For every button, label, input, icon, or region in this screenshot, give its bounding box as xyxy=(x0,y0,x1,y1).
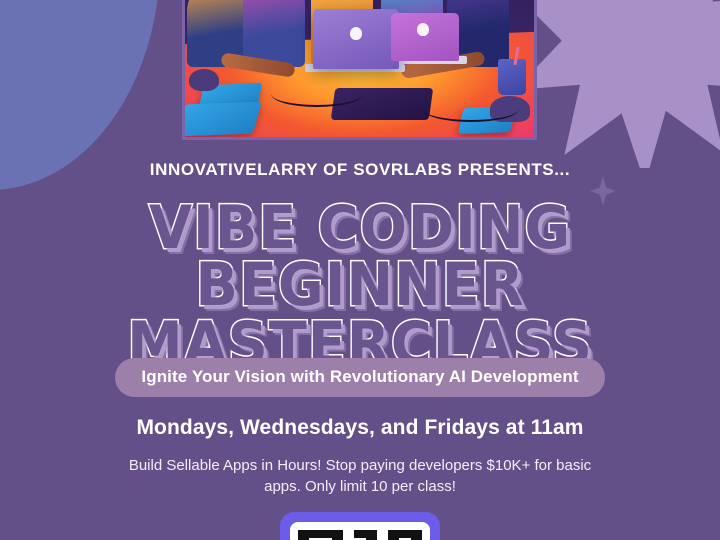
qr-code-icon xyxy=(298,530,422,540)
illustration-tablet xyxy=(182,102,262,137)
illustration-laptop xyxy=(391,13,459,61)
illustration-cable xyxy=(271,81,363,107)
presenter-line: INNOVATIVELARRY OF SOVRLABS PRESENTS... xyxy=(0,160,720,180)
tagline-banner: Ignite Your Vision with Revolutionary AI… xyxy=(0,358,720,397)
illustration-cable xyxy=(423,96,519,122)
decorative-small-star-icon xyxy=(590,176,616,206)
title-line-1: VIBE CODING BEGINNER xyxy=(25,200,695,314)
decorative-starburst-icon xyxy=(515,0,720,168)
illustration-mouse xyxy=(189,69,219,91)
flyer-poster: INNOVATIVELARRY OF SOVRLABS PRESENTS... … xyxy=(0,0,720,540)
qr-code-card[interactable] xyxy=(280,512,440,540)
page-title: VIBE CODING BEGINNER MASTERCLASS xyxy=(0,200,720,373)
hero-illustration xyxy=(182,0,537,140)
apple-logo-icon xyxy=(417,23,429,36)
apple-logo-icon xyxy=(350,27,362,40)
description-text: Build Sellable Apps in Hours! Stop payin… xyxy=(110,456,610,497)
tagline-pill: Ignite Your Vision with Revolutionary AI… xyxy=(115,358,604,397)
hero-illustration-scene xyxy=(185,0,534,137)
qr-code-surface xyxy=(290,522,430,540)
illustration-mug xyxy=(498,59,526,95)
schedule-text: Mondays, Wednesdays, and Fridays at 11am xyxy=(0,416,720,440)
